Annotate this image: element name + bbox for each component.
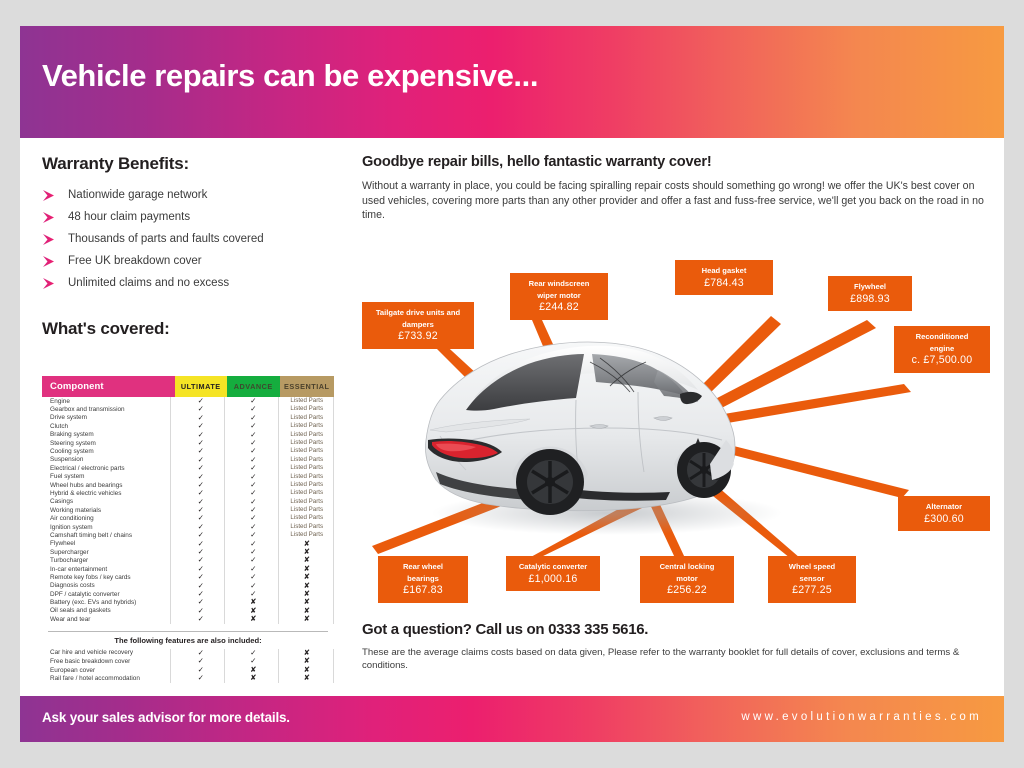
cell-component: Wear and tear xyxy=(42,616,175,623)
table-row: Ignition system✓✓Listed Parts xyxy=(42,523,334,531)
cell-component: Braking system xyxy=(42,431,175,438)
callout-price: £784.43 xyxy=(684,278,764,290)
also-included-title: The following features are also included… xyxy=(42,636,334,645)
benefit-label: Thousands of parts and faults covered xyxy=(68,233,264,245)
call-us-heading[interactable]: Got a question? Call us on 0333 335 5616… xyxy=(362,621,992,638)
table-row: Supercharger✓✓✘ xyxy=(42,548,334,556)
cell-component: Ignition system xyxy=(42,524,175,531)
cell-essential: Listed Parts xyxy=(280,489,334,497)
table-row: Hybrid & electric vehicles✓✓Listed Parts xyxy=(42,489,334,497)
table-row: Turbocharger✓✓✘ xyxy=(42,556,334,564)
cell-essential: Listed Parts xyxy=(280,473,334,481)
whats-covered-title: What's covered: xyxy=(42,319,342,339)
table-row: Wear and tear✓✘✘ xyxy=(42,615,334,623)
cell-component: Rail fare / hotel accommodation xyxy=(42,675,175,682)
table-row: Fuel system✓✓Listed Parts xyxy=(42,473,334,481)
benefit-label: 48 hour claim payments xyxy=(68,211,190,223)
cell-essential: Listed Parts xyxy=(280,514,334,522)
table-row: Braking system✓✓Listed Parts xyxy=(42,431,334,439)
chevron-right-icon xyxy=(42,255,60,267)
intro-heading: Goodbye repair bills, hello fantastic wa… xyxy=(362,154,992,170)
cell-essential: Listed Parts xyxy=(280,464,334,472)
callout-label: Rear windscreen wiper motor xyxy=(519,278,599,301)
cell-essential: Listed Parts xyxy=(280,431,334,439)
table-row: Remote key fobs / key cards✓✓✘ xyxy=(42,573,334,581)
cell-component: Camshaft timing belt / chains xyxy=(42,532,175,539)
callout-price: £244.82 xyxy=(519,302,599,314)
cell-component: Fuel system xyxy=(42,473,175,480)
callout-price: £277.25 xyxy=(777,585,847,597)
benefit-label: Nationwide garage network xyxy=(68,189,207,201)
table-row: DPF / catalytic converter✓✓✘ xyxy=(42,590,334,598)
table-row: Flywheel✓✓✘ xyxy=(42,540,334,548)
cell-component: In-car entertainment xyxy=(42,566,175,573)
table-row: Oil seals and gaskets✓✘✘ xyxy=(42,607,334,615)
warranty-benefits-title: Warranty Benefits: xyxy=(42,154,342,174)
vehicle-cost-diagram: Tailgate drive units and dampers £733.92… xyxy=(362,258,1008,618)
footer-tagline: Ask your sales advisor for more details. xyxy=(42,710,290,725)
cell-component: DPF / catalytic converter xyxy=(42,591,175,598)
cell-essential: Listed Parts xyxy=(280,447,334,455)
table-row: Electrical / electronic parts✓✓Listed Pa… xyxy=(42,464,334,472)
table-row: Casings✓✓Listed Parts xyxy=(42,498,334,506)
cell-component: Clutch xyxy=(42,423,175,430)
cell-essential: Listed Parts xyxy=(280,414,334,422)
benefit-label: Unlimited claims and no excess xyxy=(68,277,229,289)
callout-price: £300.60 xyxy=(907,514,981,526)
cell-component: Steering system xyxy=(42,440,175,447)
table-row: Free basic breakdown cover✓✓✘ xyxy=(42,657,334,666)
callout-label: Tailgate drive units and dampers xyxy=(371,307,465,330)
benefit-item: Nationwide garage network xyxy=(42,184,342,205)
cell-component: European cover xyxy=(42,667,175,674)
cell-component: Battery (exc. EVs and hybrids) xyxy=(42,599,175,606)
contact-block: Got a question? Call us on 0333 335 5616… xyxy=(362,621,992,672)
callout-catalytic-converter[interactable]: Catalytic converter £1,000.16 xyxy=(506,556,600,591)
table-row: Battery (exc. EVs and hybrids)✓✘✘ xyxy=(42,598,334,606)
table-row: Wheel hubs and bearings✓✓Listed Parts xyxy=(42,481,334,489)
chevron-right-icon xyxy=(42,189,60,201)
disclaimer-text: These are the average claims costs based… xyxy=(362,646,992,672)
table-row: Steering system✓✓Listed Parts xyxy=(42,439,334,447)
cell-essential: Listed Parts xyxy=(280,506,334,514)
cell-component: Remote key fobs / key cards xyxy=(42,574,175,581)
cell-component: Free basic breakdown cover xyxy=(42,658,175,665)
column-header-ultimate: ULTIMATE xyxy=(175,376,228,397)
table-row: Engine✓✓Listed Parts xyxy=(42,397,334,405)
callout-flywheel[interactable]: Flywheel £898.93 xyxy=(828,276,912,311)
page-title: Vehicle repairs can be expensive... xyxy=(42,58,538,94)
warranty-benefits-list: Nationwide garage network 48 hour claim … xyxy=(42,184,342,293)
cell-essential: Listed Parts xyxy=(280,422,334,430)
coverage-table: Component ULTIMATE ADVANCE ESSENTIAL Eng… xyxy=(42,376,334,683)
cell-essential: Listed Parts xyxy=(280,405,334,413)
cell-component: Cooling system xyxy=(42,448,175,455)
callout-label: Catalytic converter xyxy=(515,561,591,573)
benefit-item: Thousands of parts and faults covered xyxy=(42,228,342,249)
table-row: Cooling system✓✓Listed Parts xyxy=(42,447,334,455)
cell-essential: Listed Parts xyxy=(280,456,334,464)
cell-component: Electrical / electronic parts xyxy=(42,465,175,472)
callout-reconditioned-engine[interactable]: Reconditioned engine c. £7,500.00 xyxy=(894,326,990,373)
callout-label: Flywheel xyxy=(837,281,903,293)
header-banner: Vehicle repairs can be expensive... xyxy=(20,26,1004,138)
poster-page: Vehicle repairs can be expensive... Warr… xyxy=(20,26,1004,742)
callout-head-gasket[interactable]: Head gasket £784.43 xyxy=(675,260,773,295)
section-divider xyxy=(48,631,328,632)
cell-component: Car hire and vehicle recovery xyxy=(42,649,175,656)
callout-label: Central locking motor xyxy=(649,561,725,584)
benefit-item: Unlimited claims and no excess xyxy=(42,272,342,293)
also-included-table: Car hire and vehicle recovery✓✓✘Free bas… xyxy=(42,649,334,683)
cell-essential: Listed Parts xyxy=(280,498,334,506)
callout-label: Rear wheel bearings xyxy=(387,561,459,584)
table-row: Working materials✓✓Listed Parts xyxy=(42,506,334,514)
callout-alternator[interactable]: Alternator £300.60 xyxy=(898,496,990,531)
cell-essential: ✘ xyxy=(280,615,334,623)
cell-component: Casings xyxy=(42,498,175,505)
cell-component: Supercharger xyxy=(42,549,175,556)
table-row: Air conditioning✓✓Listed Parts xyxy=(42,514,334,522)
callout-price: £898.93 xyxy=(837,294,903,306)
cell-ultimate: ✓ xyxy=(175,615,228,623)
cell-component: Hybrid & electric vehicles xyxy=(42,490,175,497)
benefit-item: Free UK breakdown cover xyxy=(42,250,342,271)
table-row: Rail fare / hotel accommodation✓✘✘ xyxy=(42,674,334,683)
callout-price: £1,000.16 xyxy=(515,574,591,586)
chevron-right-icon xyxy=(42,233,60,245)
cell-essential: ✘ xyxy=(280,674,334,682)
table-row: In-car entertainment✓✓✘ xyxy=(42,565,334,573)
left-column: Warranty Benefits: Nationwide garage net… xyxy=(42,154,342,339)
cell-essential: Listed Parts xyxy=(280,397,334,405)
benefit-item: 48 hour claim payments xyxy=(42,206,342,227)
callout-label: Alternator xyxy=(907,501,981,513)
cell-component: Working materials xyxy=(42,507,175,514)
chevron-right-icon xyxy=(42,277,60,289)
callout-rear-wheel-bearings[interactable]: Rear wheel bearings £167.83 xyxy=(378,556,468,603)
callout-price: £256.22 xyxy=(649,585,725,597)
callout-price: £167.83 xyxy=(387,585,459,597)
cell-component: Air conditioning xyxy=(42,515,175,522)
cell-component: Wheel hubs and bearings xyxy=(42,482,175,489)
table-row: Suspension✓✓Listed Parts xyxy=(42,456,334,464)
callout-price: £733.92 xyxy=(371,331,465,343)
table-row: Camshaft timing belt / chains✓✓Listed Pa… xyxy=(42,531,334,539)
table-row: Drive system✓✓Listed Parts xyxy=(42,414,334,422)
callout-wheel-speed-sensor[interactable]: Wheel speed sensor £277.25 xyxy=(768,556,856,603)
callout-rear-windscreen-wiper-motor[interactable]: Rear windscreen wiper motor £244.82 xyxy=(510,273,608,320)
callout-tailgate-drive-units[interactable]: Tailgate drive units and dampers £733.92 xyxy=(362,302,474,349)
callout-central-locking-motor[interactable]: Central locking motor £256.22 xyxy=(640,556,734,603)
table-row: Gearbox and transmission✓✓Listed Parts xyxy=(42,405,334,413)
cell-essential: Listed Parts xyxy=(280,523,334,531)
cell-component: Drive system xyxy=(42,414,175,421)
callout-label: Reconditioned engine xyxy=(903,331,981,354)
cell-component: Oil seals and gaskets xyxy=(42,607,175,614)
table-row: Diagnosis costs✓✓✘ xyxy=(42,582,334,590)
cell-essential: Listed Parts xyxy=(280,439,334,447)
cell-component: Diagnosis costs xyxy=(42,582,175,589)
cell-essential: Listed Parts xyxy=(280,481,334,489)
table-row: Car hire and vehicle recovery✓✓✘ xyxy=(42,649,334,658)
callout-label: Head gasket xyxy=(684,265,764,277)
table-row: Clutch✓✓Listed Parts xyxy=(42,422,334,430)
table-row: European cover✓✘✘ xyxy=(42,666,334,675)
right-column: Goodbye repair bills, hello fantastic wa… xyxy=(362,154,992,223)
cell-component: Flywheel xyxy=(42,540,175,547)
cell-component: Engine xyxy=(42,398,175,405)
chevron-right-icon xyxy=(42,211,60,223)
callout-label: Wheel speed sensor xyxy=(777,561,847,584)
cell-component: Gearbox and transmission xyxy=(42,406,175,413)
coverage-table-header: Component ULTIMATE ADVANCE ESSENTIAL xyxy=(42,376,334,397)
cell-advance: ✘ xyxy=(227,674,280,682)
cell-component: Suspension xyxy=(42,456,175,463)
column-header-essential: ESSENTIAL xyxy=(280,376,334,397)
benefit-label: Free UK breakdown cover xyxy=(68,255,202,267)
cell-component: Turbocharger xyxy=(42,557,175,564)
cell-advance: ✘ xyxy=(227,615,280,623)
cell-ultimate: ✓ xyxy=(175,674,228,682)
column-header-advance: ADVANCE xyxy=(227,376,280,397)
callout-price: c. £7,500.00 xyxy=(903,355,981,367)
column-header-component: Component xyxy=(42,376,175,397)
coverage-table-body: Engine✓✓Listed PartsGearbox and transmis… xyxy=(42,397,334,624)
footer-website[interactable]: www.evolutionwarranties.com xyxy=(741,711,982,723)
footer-banner: Ask your sales advisor for more details.… xyxy=(20,696,1004,742)
intro-body: Without a warranty in place, you could b… xyxy=(362,179,992,223)
